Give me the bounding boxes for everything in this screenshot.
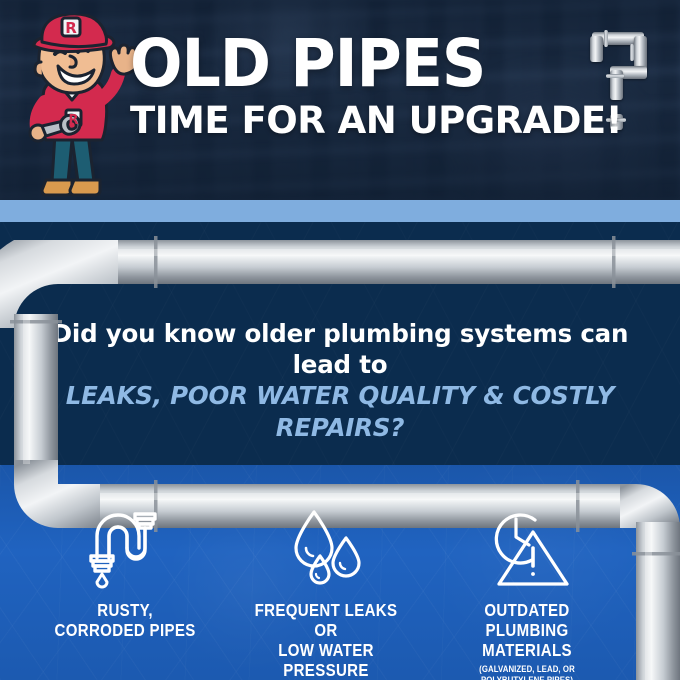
p-trap-pipe-leak-icon: [83, 505, 167, 591]
feature-label-line1: FREQUENT LEAKS OR: [244, 600, 407, 640]
page-title: OLD PIPES: [130, 34, 680, 94]
infographic-canvas: R R OLD PIPES TIME FOR AN UPGRADE! Did y…: [0, 0, 680, 680]
feature-label: RUSTY, CORRODED PIPES: [54, 600, 195, 640]
feature-item: OUTDATED PLUMBING MATERIALS (GALVANIZED,…: [432, 505, 622, 680]
question-line-1: Did you know older plumbing systems can …: [46, 318, 634, 380]
feature-label: OUTDATED PLUMBING MATERIALS: [445, 600, 608, 660]
water-droplets-icon: [284, 505, 368, 591]
feature-label-line2: CORRODED PIPES: [54, 620, 195, 640]
header-section: R R OLD PIPES TIME FOR AN UPGRADE!: [0, 0, 680, 200]
page-subtitle: TIME FOR AN UPGRADE!: [130, 102, 670, 140]
question-section: Did you know older plumbing systems can …: [0, 222, 680, 465]
question-line-2: LEAKS, POOR WATER QUALITY & COSTLY REPAI…: [46, 380, 634, 444]
feature-item: FREQUENT LEAKS OR LOW WATER PRESSURE: [231, 505, 421, 680]
feature-item: RUSTY, CORRODED PIPES: [30, 505, 220, 640]
divider-band: [0, 200, 680, 222]
feature-label-line2: LOW WATER PRESSURE: [244, 640, 407, 680]
feature-label-line1: OUTDATED PLUMBING: [445, 600, 608, 640]
feature-sublabel: (GALVANIZED, LEAD, OR POLYBUTYLENE PIPES…: [446, 664, 608, 680]
mascot-shirt-letter: R: [68, 113, 78, 128]
feature-label: FREQUENT LEAKS OR LOW WATER PRESSURE: [244, 600, 407, 680]
plumber-mascot-icon: R R: [8, 14, 140, 200]
feature-label-line2: MATERIALS: [445, 640, 608, 660]
mascot-cap-letter: R: [65, 19, 77, 37]
headline-group: OLD PIPES TIME FOR AN UPGRADE!: [130, 34, 670, 140]
question-text-block: Did you know older plumbing systems can …: [0, 318, 680, 444]
feature-label-line1: RUSTY,: [54, 600, 195, 620]
feature-list: RUSTY, CORRODED PIPES F: [30, 505, 622, 680]
clock-warning-triangle-icon: [483, 505, 571, 591]
